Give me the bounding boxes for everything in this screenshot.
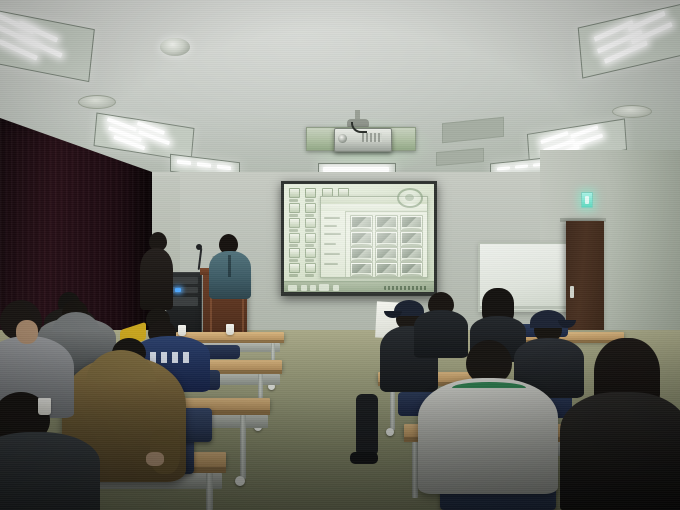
projector-vent bbox=[362, 133, 382, 142]
attendee-grey-sweater bbox=[418, 378, 558, 494]
lecture-room-photo bbox=[0, 0, 680, 510]
rack-power-led bbox=[175, 288, 181, 292]
paper-cup bbox=[178, 325, 186, 336]
table-leg bbox=[206, 473, 213, 510]
table-leg bbox=[390, 386, 395, 430]
attendee-legs bbox=[356, 394, 378, 456]
attendee-dark-coat-rear bbox=[414, 310, 468, 358]
sweater-green-collar-stripe bbox=[452, 382, 526, 388]
presenter-shirt-placket bbox=[228, 255, 231, 277]
presenter-standing-left-body bbox=[140, 248, 173, 310]
ceiling-speaker bbox=[78, 95, 116, 109]
ceiling-downlight bbox=[160, 38, 190, 56]
table-caster bbox=[235, 476, 245, 486]
emergency-exit-sign bbox=[581, 192, 593, 208]
ceiling-speaker bbox=[612, 105, 652, 118]
table-leg bbox=[240, 415, 246, 479]
jacket-lettering bbox=[150, 352, 194, 363]
microphone-head-icon bbox=[196, 244, 202, 250]
projector-lens bbox=[338, 134, 347, 143]
exit-sign-glyph-icon bbox=[585, 196, 589, 204]
table-caster bbox=[386, 428, 394, 436]
screen-light-bloom bbox=[284, 184, 434, 292]
projection-screen bbox=[284, 184, 434, 292]
attendee-black-puffer bbox=[560, 392, 680, 510]
shoe bbox=[350, 452, 378, 464]
paper-cup bbox=[38, 398, 51, 415]
attendee-dark-front bbox=[0, 432, 100, 510]
hand bbox=[16, 320, 38, 344]
door-handle-icon[interactable] bbox=[570, 286, 574, 298]
hand bbox=[146, 452, 164, 466]
paper-cup bbox=[226, 324, 234, 335]
